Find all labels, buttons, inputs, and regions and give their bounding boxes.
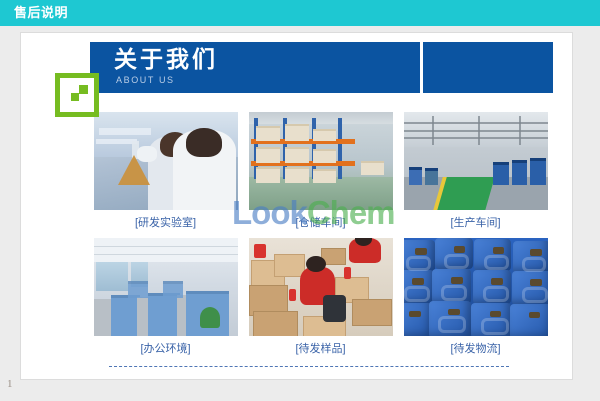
logo-square-lower-icon [71,93,79,101]
page-number: 1 [7,378,13,390]
photo-caption: [待发物流] [398,341,553,357]
banner-text-group: 关于我们 ABOUT US [114,45,218,86]
photo-cell-office: [办公环境] [88,238,243,364]
banner-title-cn: 关于我们 [114,45,218,73]
photo-caption: [待发样品] [243,341,398,357]
photo-office [94,238,238,336]
photo-cell-warehouse: [仓储车间] [243,112,398,238]
photo-caption: [仓储车间] [243,215,398,231]
content-card: 关于我们 ABOUT US [20,32,573,380]
photo-caption: [研发实验室] [88,215,243,231]
photo-caption: [办公环境] [88,341,243,357]
photo-cell-lab: [研发实验室] [88,112,243,238]
facility-photo-grid: [研发实验室] [88,112,554,364]
logo-square-upper-icon [79,85,88,94]
logo-inner-plate [60,78,94,112]
banner-divider [420,42,423,93]
photo-warehouse [249,112,393,210]
top-title-text: 售后说明 [14,4,68,22]
photo-blue-drums [404,238,548,336]
dashed-divider [109,366,509,367]
photo-cell-production: [生产车间] [398,112,553,238]
photo-laboratory [94,112,238,210]
photo-caption: [生产车间] [398,215,553,231]
photo-row: [办公环境] [88,238,554,364]
company-logo-icon [55,73,99,117]
banner-title-en: ABOUT US [116,74,218,86]
photo-production-workshop [404,112,548,210]
photo-packing-samples [249,238,393,336]
top-title-bar: 售后说明 [0,0,600,26]
about-us-banner: 关于我们 ABOUT US [90,42,553,93]
photo-cell-logistics: [待发物流] [398,238,553,364]
photo-cell-samples: [待发样品] [243,238,398,364]
photo-row: [研发实验室] [88,112,554,238]
